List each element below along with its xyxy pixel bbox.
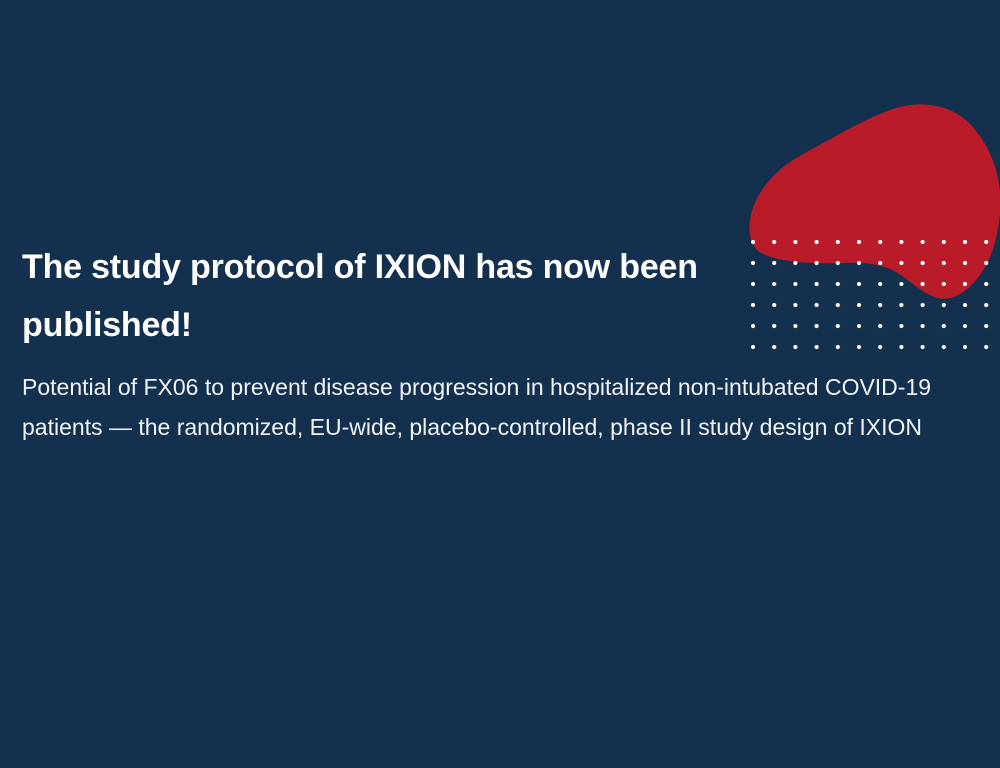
announcement-banner: The study protocol of IXION has now been… — [0, 0, 1000, 768]
text-content: The study protocol of IXION has now been… — [22, 238, 990, 447]
page-title: The study protocol of IXION has now been… — [22, 238, 812, 354]
page-subtitle: Potential of FX06 to prevent disease pro… — [22, 354, 990, 447]
